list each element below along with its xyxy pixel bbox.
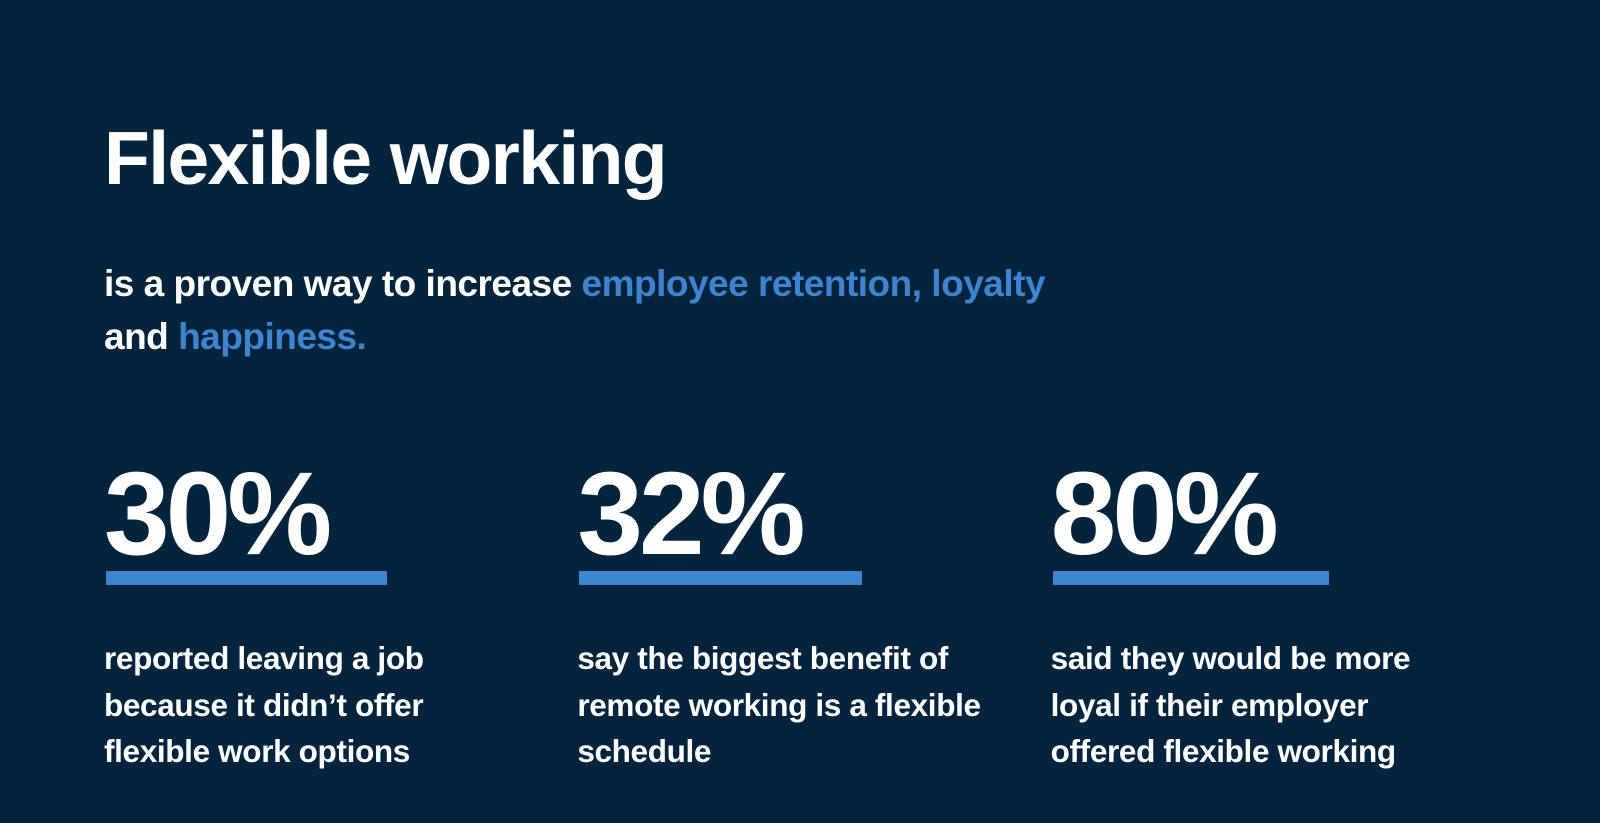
stat-figure: 32% [577, 455, 801, 573]
page-title: Flexible working [104, 118, 666, 199]
stat-figure: 80% [1051, 455, 1275, 573]
stat-caption: reported leaving a job because it didn’t… [104, 635, 515, 775]
stat-caption: said they would be more loyal if their e… [1051, 635, 1462, 775]
stat-card: 32% say the biggest benefit of remote wo… [577, 455, 1050, 775]
stat-underline-bar [579, 571, 862, 585]
stat-card: 30% reported leaving a job because it di… [104, 455, 577, 775]
subheading-highlight-1: employee retention, loyalty [582, 263, 1046, 304]
subheading-highlight-2: happiness. [178, 316, 366, 357]
stat-card: 80% said they would be more loyal if the… [1051, 455, 1524, 775]
statistics-row: 30% reported leaving a job because it di… [104, 455, 1524, 775]
subheading: is a proven way to increase employee ret… [104, 258, 1114, 363]
subheading-text-1: is a proven way to increase [104, 263, 582, 304]
stat-caption: say the biggest benefit of remote workin… [577, 635, 988, 775]
stat-underline-bar [1053, 571, 1329, 585]
stat-figure: 30% [104, 455, 328, 573]
infographic-slide: Flexible working is a proven way to incr… [0, 0, 1600, 823]
subheading-text-2: and [104, 316, 178, 357]
stat-underline-bar [106, 571, 387, 585]
